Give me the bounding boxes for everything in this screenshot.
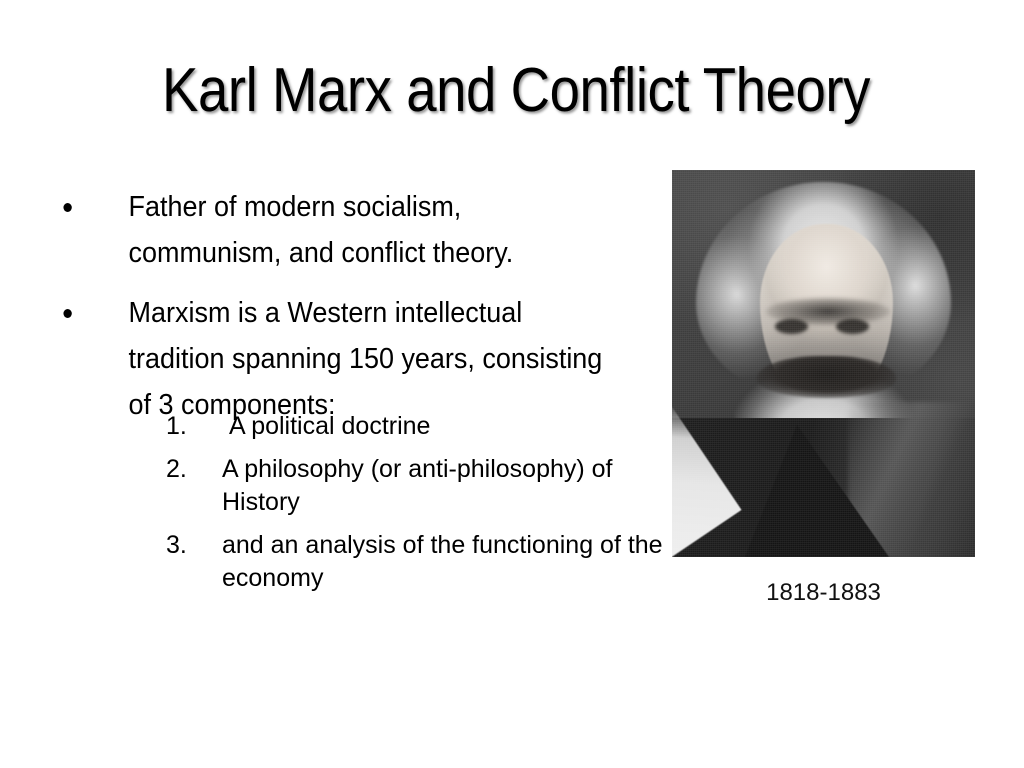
- bullet-list-item: Father of modern socialism, communism, a…: [56, 184, 614, 276]
- bullet-dot-icon: [63, 203, 71, 212]
- karl-marx-portrait-image: [672, 170, 975, 557]
- portrait-caption: 1818-1883: [672, 578, 975, 608]
- slide-title: Karl Marx and Conflict Theory: [115, 56, 918, 126]
- bullet-list-item: Marxism is a Western intellectual tradit…: [56, 290, 614, 428]
- bullet-list: Father of modern socialism, communism, a…: [56, 184, 656, 442]
- list-number: 2.: [166, 453, 208, 486]
- presentation-slide: Karl Marx and Conflict Theory Father of …: [0, 0, 1024, 768]
- bullet-text: Father of modern socialism, communism, a…: [129, 191, 514, 269]
- bullet-dot-icon: [63, 309, 71, 318]
- numbered-item-text: A political doctrine: [222, 410, 666, 443]
- numbered-item-text: A philosophy (or anti-philosophy) of His…: [222, 453, 666, 519]
- portrait-moustache: [757, 356, 896, 399]
- list-number: 3.: [166, 529, 208, 562]
- numbered-list: 1. A political doctrine 2. A philosophy …: [166, 410, 666, 605]
- numbered-list-item: 2. A philosophy (or anti-philosophy) of …: [166, 453, 666, 519]
- numbered-item-text: and an analysis of the functioning of th…: [222, 529, 666, 595]
- portrait-lapel: [745, 425, 889, 557]
- bullet-text: Marxism is a Western intellectual tradit…: [129, 297, 603, 421]
- numbered-list-item: 3. and an analysis of the functioning of…: [166, 529, 666, 595]
- list-number: 1.: [166, 410, 208, 443]
- numbered-list-item: 1. A political doctrine: [166, 410, 666, 443]
- portrait-figure: [672, 170, 975, 557]
